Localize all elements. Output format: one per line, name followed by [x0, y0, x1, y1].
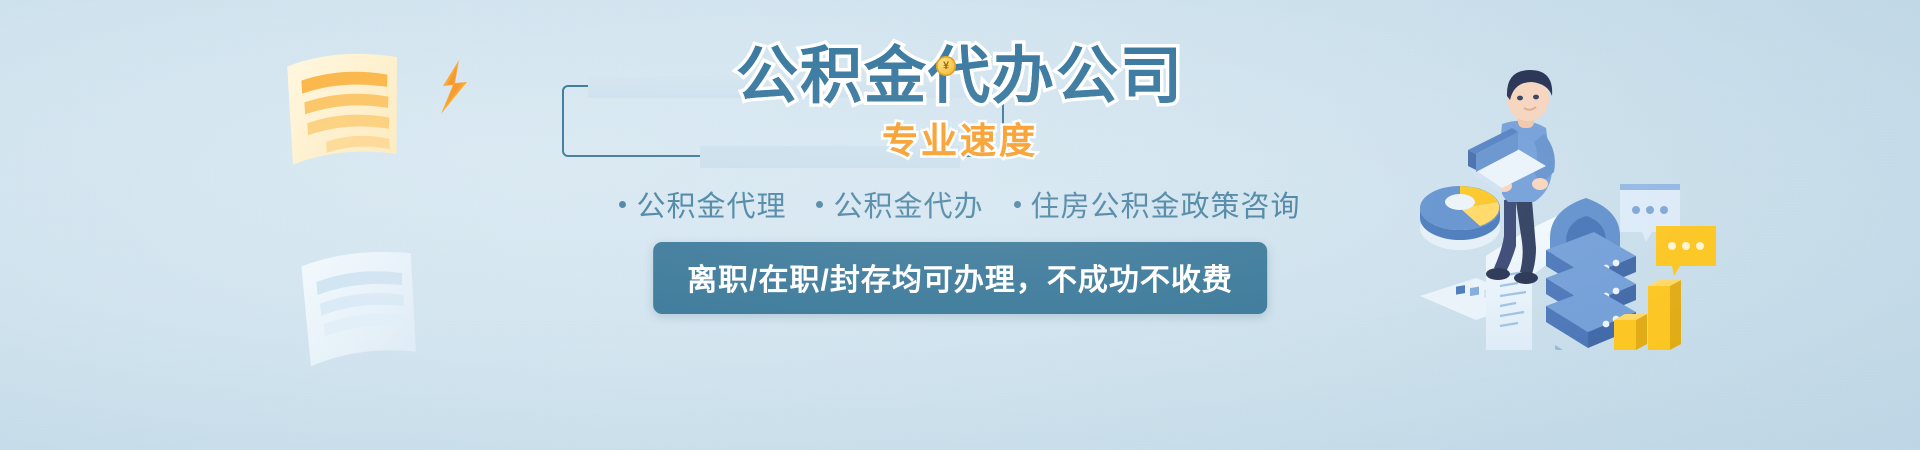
service-item-1: 公积金代理 [619, 183, 786, 225]
service-item-3: 住房公积金政策咨询 [1014, 183, 1301, 225]
person-with-laptop-on-server-illustration [1420, 50, 1740, 355]
service-item-2: 公积金代办 [816, 183, 983, 225]
service-label-3: 住房公积金政策咨询 [1031, 183, 1301, 225]
pie-chart-decor [1420, 186, 1500, 250]
service-label-1: 公积金代理 [636, 183, 786, 225]
yen-coin-icon: ¥ [936, 56, 956, 76]
cta-button[interactable]: 离职/在职/封存均可办理，不成功不收费 [653, 242, 1267, 314]
bullet-dot-icon [1014, 201, 1021, 208]
service-label-2: 公积金代办 [833, 183, 983, 225]
bullet-dot-icon [816, 201, 823, 208]
bullet-dot-icon [619, 201, 626, 208]
promo-banner: 公积金代办公司 公积金代办公司 ¥ 专业速度 专业速度 公积金代理 公积金代办 … [0, 0, 1920, 450]
yen-symbol: ¥ [943, 61, 949, 72]
